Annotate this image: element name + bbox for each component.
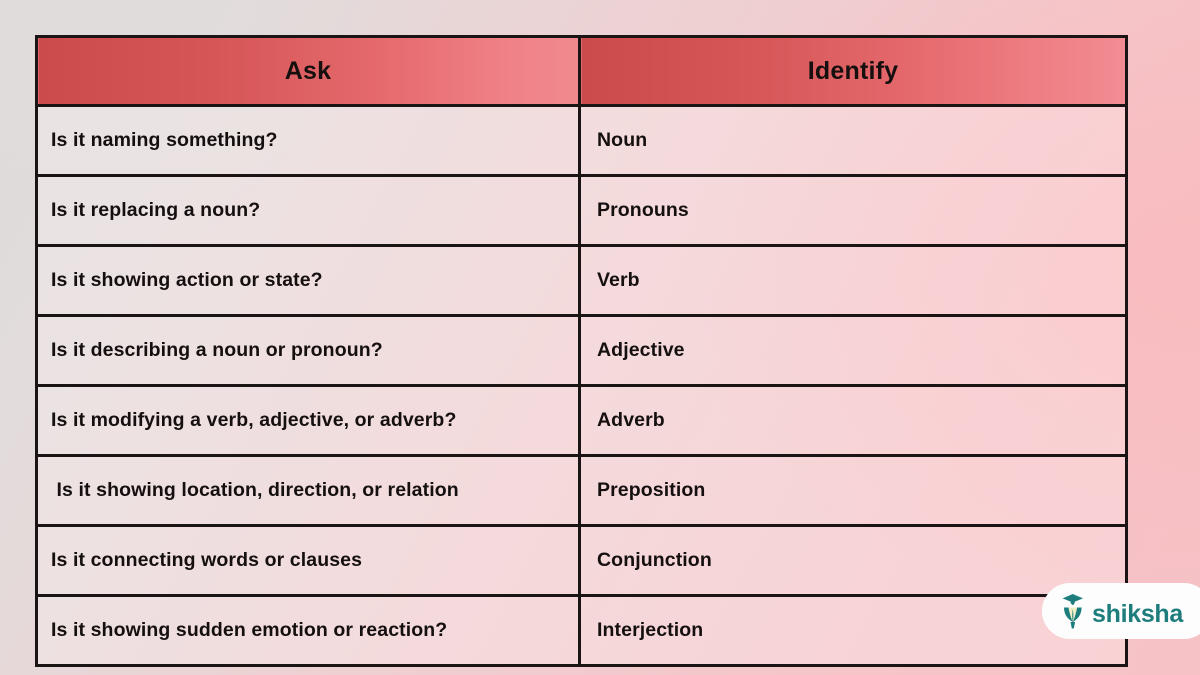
- shiksha-graduation-cap-icon: [1056, 591, 1090, 631]
- cell-ask: Is it modifying a verb, adjective, or ad…: [37, 386, 580, 456]
- table-row: Is it describing a noun or pronoun?Adjec…: [37, 316, 1127, 386]
- table-row: Is it replacing a noun?Pronouns: [37, 176, 1127, 246]
- cell-ask: Is it showing sudden emotion or reaction…: [37, 596, 580, 666]
- table-header-row: Ask Identify: [37, 37, 1127, 106]
- slide-canvas: Ask Identify Is it naming something?Noun…: [0, 0, 1200, 675]
- cell-identify: Preposition: [580, 456, 1127, 526]
- table-row: Is it showing sudden emotion or reaction…: [37, 596, 1127, 666]
- table-row: Is it showing action or state?Verb: [37, 246, 1127, 316]
- table-header: Ask Identify: [37, 37, 1127, 106]
- cell-identify: Adverb: [580, 386, 1127, 456]
- cell-ask: Is it showing action or state?: [37, 246, 580, 316]
- table-row: Is it connecting words or clausesConjunc…: [37, 526, 1127, 596]
- table-row: Is it naming something?Noun: [37, 106, 1127, 176]
- table-row: Is it showing location, direction, or re…: [37, 456, 1127, 526]
- cell-ask: Is it showing location, direction, or re…: [37, 456, 580, 526]
- cell-ask: Is it connecting words or clauses: [37, 526, 580, 596]
- cell-identify: Conjunction: [580, 526, 1127, 596]
- cell-ask: Is it replacing a noun?: [37, 176, 580, 246]
- cell-ask: Is it describing a noun or pronoun?: [37, 316, 580, 386]
- cell-ask: Is it naming something?: [37, 106, 580, 176]
- column-header-identify: Identify: [580, 37, 1127, 106]
- shiksha-wordmark: shiksha: [1092, 602, 1183, 627]
- cell-identify: Adjective: [580, 316, 1127, 386]
- parts-of-speech-table: Ask Identify Is it naming something?Noun…: [35, 35, 1128, 667]
- table-body: Is it naming something?NounIs it replaci…: [37, 106, 1127, 666]
- shiksha-logo[interactable]: shiksha: [1042, 583, 1200, 639]
- column-header-ask: Ask: [37, 37, 580, 106]
- parts-of-speech-table-wrapper: Ask Identify Is it naming something?Noun…: [35, 35, 1125, 638]
- table-row: Is it modifying a verb, adjective, or ad…: [37, 386, 1127, 456]
- cell-identify: Pronouns: [580, 176, 1127, 246]
- cell-identify: Noun: [580, 106, 1127, 176]
- cell-identify: Verb: [580, 246, 1127, 316]
